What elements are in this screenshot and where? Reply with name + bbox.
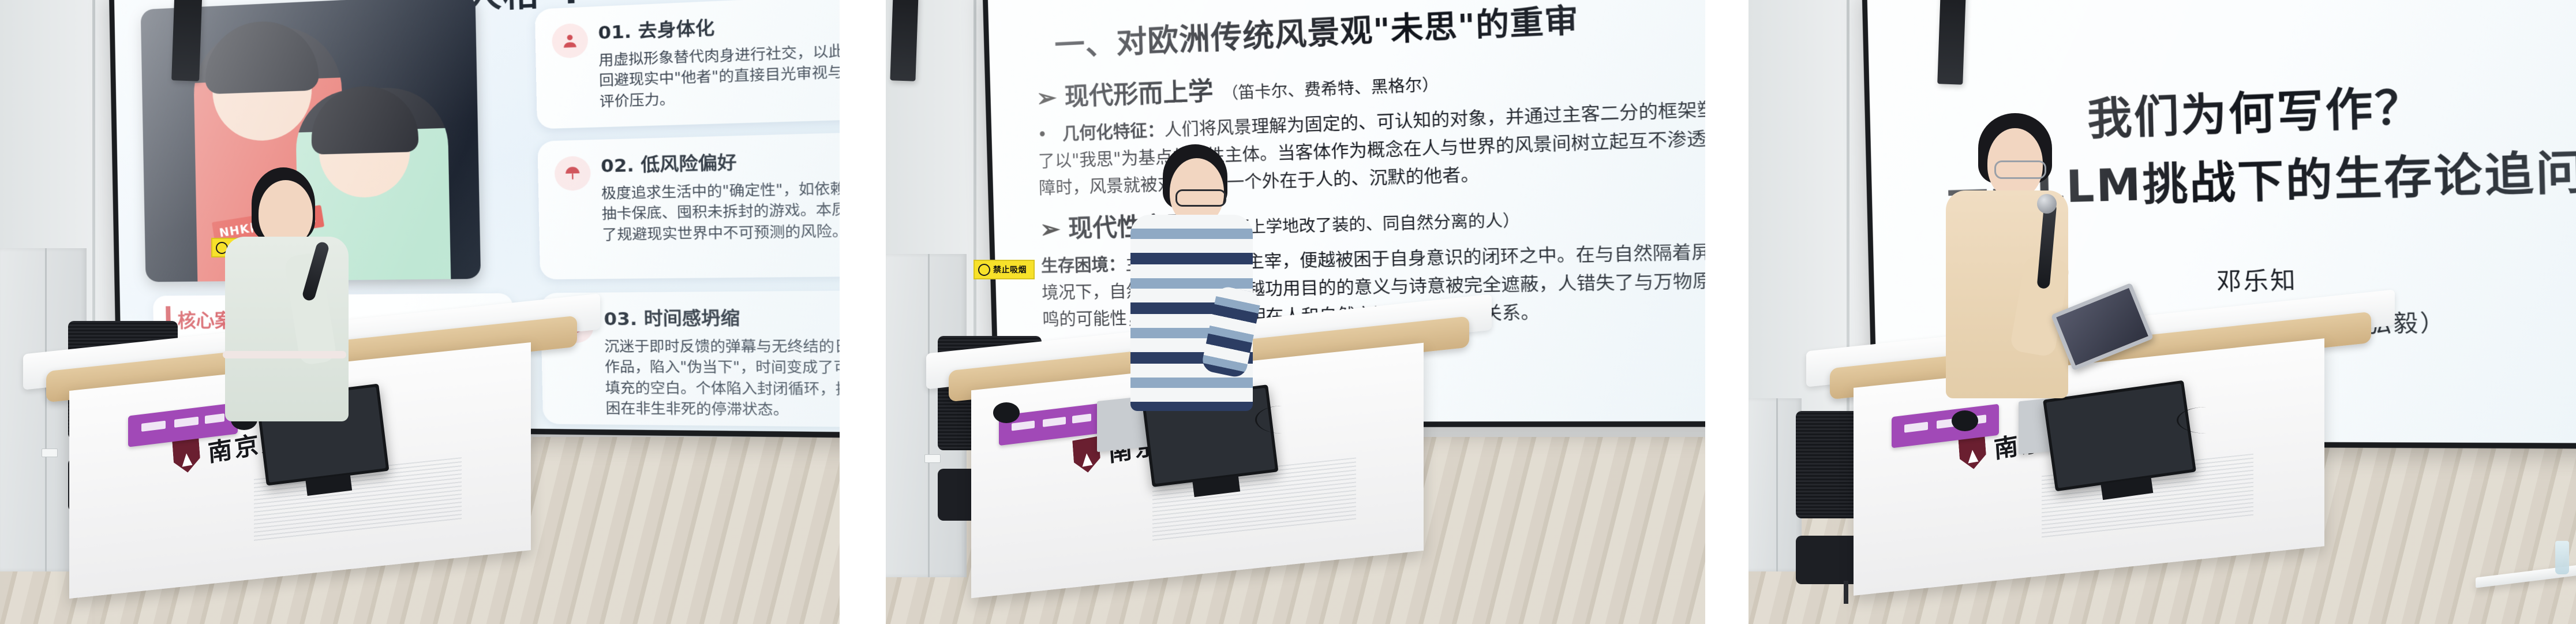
- cabinet-seam: [1776, 398, 1778, 571]
- mat-key: [141, 421, 166, 432]
- university-crest-icon: [172, 436, 201, 474]
- photo-collage: 禁止吸烟 虚拟人格"? NHKにようこそ!: [0, 0, 2576, 624]
- panel-gutter: [840, 0, 886, 624]
- cable: [2177, 407, 2236, 434]
- no-smoking-sign: 禁止吸烟: [974, 260, 1035, 279]
- ceiling-speaker: [1937, 0, 1966, 85]
- collage-panel-1: 禁止吸烟 虚拟人格"? NHKにようこそ!: [0, 0, 840, 624]
- no-smoking-label: 禁止吸烟: [993, 264, 1027, 275]
- presenter-glasses: [1994, 160, 2046, 179]
- presenter-person: [190, 167, 364, 416]
- no-smoking-icon: [978, 264, 990, 276]
- ceiling-speaker: [171, 0, 203, 81]
- mat-key: [1043, 416, 1066, 427]
- mat-key: [174, 417, 199, 428]
- presenter-person: [1941, 113, 2132, 402]
- presenter-glasses: [1175, 189, 1226, 207]
- collage-panel-3: 我们为何写作？ ——LLM挑战下的生存论追问 邓乐知 武汉大学 2023级 哲学…: [1748, 0, 2576, 624]
- microphone-head: [2037, 194, 2057, 214]
- panel-gutter: [1705, 0, 1748, 624]
- water-bottle: [2555, 541, 2569, 574]
- presenter-belt: [223, 351, 346, 358]
- mat-key: [1012, 420, 1035, 431]
- collage-panel-2: 禁止吸烟 一、对欧洲传统风景观"未思"的重审 ➢ 现代形而上学 （笛卡尔、费希特…: [886, 0, 1705, 624]
- mat-key: [1072, 413, 1091, 424]
- presenter-person: [1122, 144, 1296, 416]
- desk-microphone: [993, 402, 1020, 423]
- ceiling-speaker: [890, 0, 918, 81]
- desk-microphone: [1952, 410, 1978, 431]
- storage-cabinet: [1748, 398, 1802, 571]
- mat-key: [1904, 422, 1928, 433]
